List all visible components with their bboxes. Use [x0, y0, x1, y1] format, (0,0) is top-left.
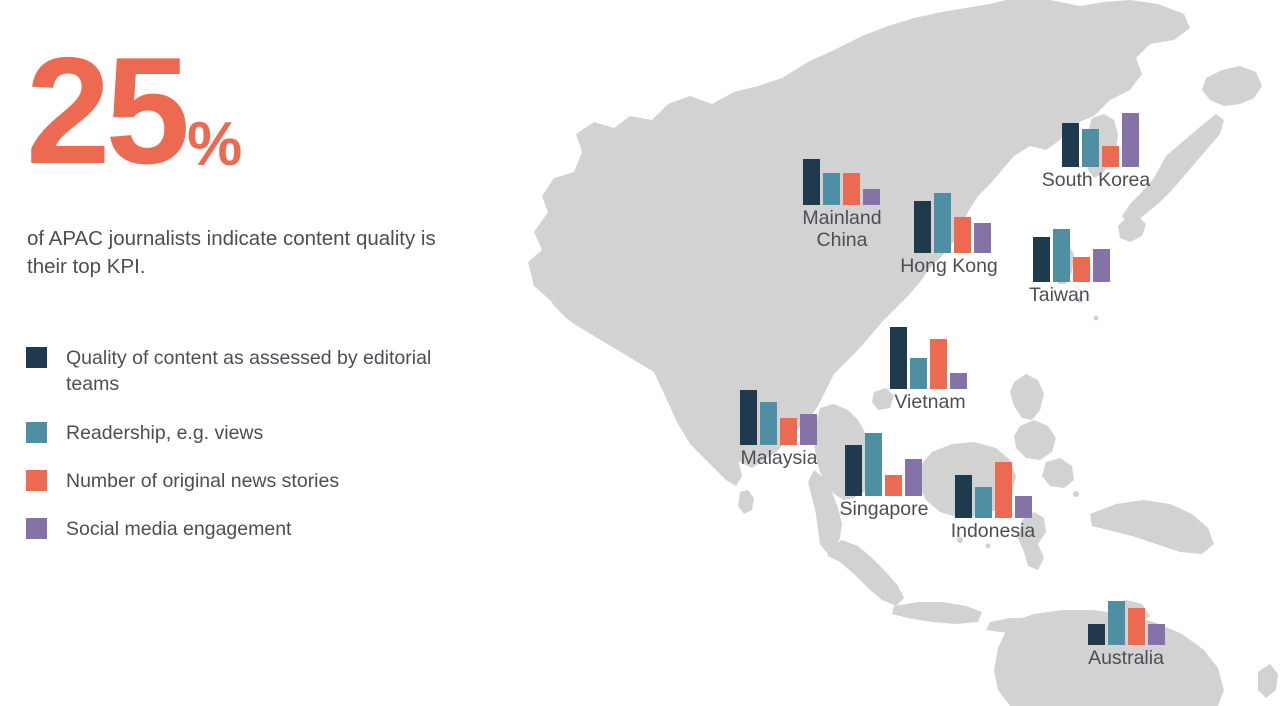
bar-singapore-quality	[845, 445, 862, 496]
bar-australia-social	[1148, 624, 1165, 645]
bar-group-mainland-china: Mainland China	[803, 159, 887, 252]
bar-indonesia-readership	[975, 487, 992, 518]
map-label-australia: Australia	[1072, 647, 1180, 669]
bar-australia-quality	[1088, 624, 1105, 645]
map-label-malaysia: Malaysia	[724, 447, 834, 469]
stat-percent-symbol: %	[187, 114, 242, 176]
bar-south-korea-stories	[1102, 146, 1119, 167]
bar-mainland-china-social	[863, 189, 880, 205]
legend: Quality of content as assessed by editor…	[26, 345, 466, 565]
bar-hong-kong-quality	[914, 201, 931, 253]
legend-item-social: Social media engagement	[26, 516, 466, 542]
bar-singapore-readership	[865, 433, 882, 496]
bar-group-singapore: Singapore	[845, 433, 945, 520]
legend-swatch-readership	[26, 422, 47, 443]
bar-malaysia-social	[800, 414, 817, 445]
bar-vietnam-readership	[910, 358, 927, 389]
bar-australia-readership	[1108, 601, 1125, 645]
left-panel: 25 % of APAC journalists indicate conten…	[0, 0, 490, 706]
legend-label-social: Social media engagement	[66, 516, 291, 542]
map-label-taiwan: Taiwan	[1029, 284, 1129, 306]
bar-mainland-china-readership	[823, 173, 840, 205]
map-label-south-korea: South Korea	[1028, 169, 1164, 191]
bar-group-malaysia: Malaysia	[740, 390, 834, 469]
bar-south-korea-social	[1122, 113, 1139, 167]
bars-mainland-china	[803, 159, 887, 205]
bar-mainland-china-stories	[843, 173, 860, 205]
bar-singapore-stories	[885, 475, 902, 496]
bar-hong-kong-stories	[954, 217, 971, 253]
bar-indonesia-stories	[995, 462, 1012, 518]
bar-taiwan-readership	[1053, 229, 1070, 282]
legend-item-readership: Readership, e.g. views	[26, 420, 466, 446]
bar-group-indonesia: Indonesia	[955, 462, 1051, 542]
legend-label-stories: Number of original news stories	[66, 468, 339, 494]
bar-indonesia-quality	[955, 475, 972, 518]
legend-label-quality: Quality of content as assessed by editor…	[66, 345, 446, 398]
bar-mainland-china-quality	[803, 159, 820, 205]
bars-south-korea	[1062, 113, 1164, 167]
bar-australia-stories	[1128, 608, 1145, 645]
bars-indonesia	[955, 462, 1051, 518]
map-label-singapore: Singapore	[823, 498, 945, 520]
map-label-mainland-china: Mainland China	[797, 207, 887, 252]
apac-map: Mainland China Hong Kong South Korea	[490, 0, 1280, 706]
bar-hong-kong-readership	[934, 193, 951, 253]
bars-taiwan	[1033, 229, 1129, 282]
map-label-vietnam: Vietnam	[878, 391, 982, 413]
bar-singapore-social	[905, 459, 922, 496]
legend-item-stories: Number of original news stories	[26, 468, 466, 494]
bars-hong-kong	[914, 193, 1010, 253]
bars-australia	[1088, 601, 1180, 645]
bar-hong-kong-social	[974, 223, 991, 253]
bar-malaysia-readership	[760, 402, 777, 445]
bars-singapore	[845, 433, 945, 496]
bar-malaysia-quality	[740, 390, 757, 445]
legend-label-readership: Readership, e.g. views	[66, 420, 263, 446]
map-label-indonesia: Indonesia	[935, 520, 1051, 542]
bar-group-australia: Australia	[1088, 601, 1180, 669]
bar-taiwan-stories	[1073, 257, 1090, 282]
bar-vietnam-quality	[890, 327, 907, 389]
legend-swatch-stories	[26, 470, 47, 491]
bar-group-vietnam: Vietnam	[890, 327, 982, 413]
bar-taiwan-social	[1093, 249, 1110, 282]
bar-south-korea-quality	[1062, 123, 1079, 167]
bar-group-south-korea: South Korea	[1062, 113, 1164, 191]
stat-number: 25	[26, 42, 185, 182]
headline-statistic: 25 %	[26, 42, 240, 182]
bar-vietnam-social	[950, 373, 967, 389]
stat-caption: of APAC journalists indicate content qua…	[27, 225, 447, 282]
bar-vietnam-stories	[930, 339, 947, 389]
bar-taiwan-quality	[1033, 237, 1050, 282]
infographic-root: 25 % of APAC journalists indicate conten…	[0, 0, 1280, 706]
bar-group-taiwan: Taiwan	[1033, 229, 1129, 306]
bars-vietnam	[890, 327, 982, 389]
legend-swatch-social	[26, 518, 47, 539]
bar-indonesia-social	[1015, 496, 1032, 518]
bar-group-hong-kong: Hong Kong	[914, 193, 1010, 277]
legend-item-quality: Quality of content as assessed by editor…	[26, 345, 466, 398]
bars-malaysia	[740, 390, 834, 445]
legend-swatch-quality	[26, 347, 47, 368]
bar-malaysia-stories	[780, 418, 797, 445]
bar-south-korea-readership	[1082, 129, 1099, 167]
map-label-hong-kong: Hong Kong	[888, 255, 1010, 277]
